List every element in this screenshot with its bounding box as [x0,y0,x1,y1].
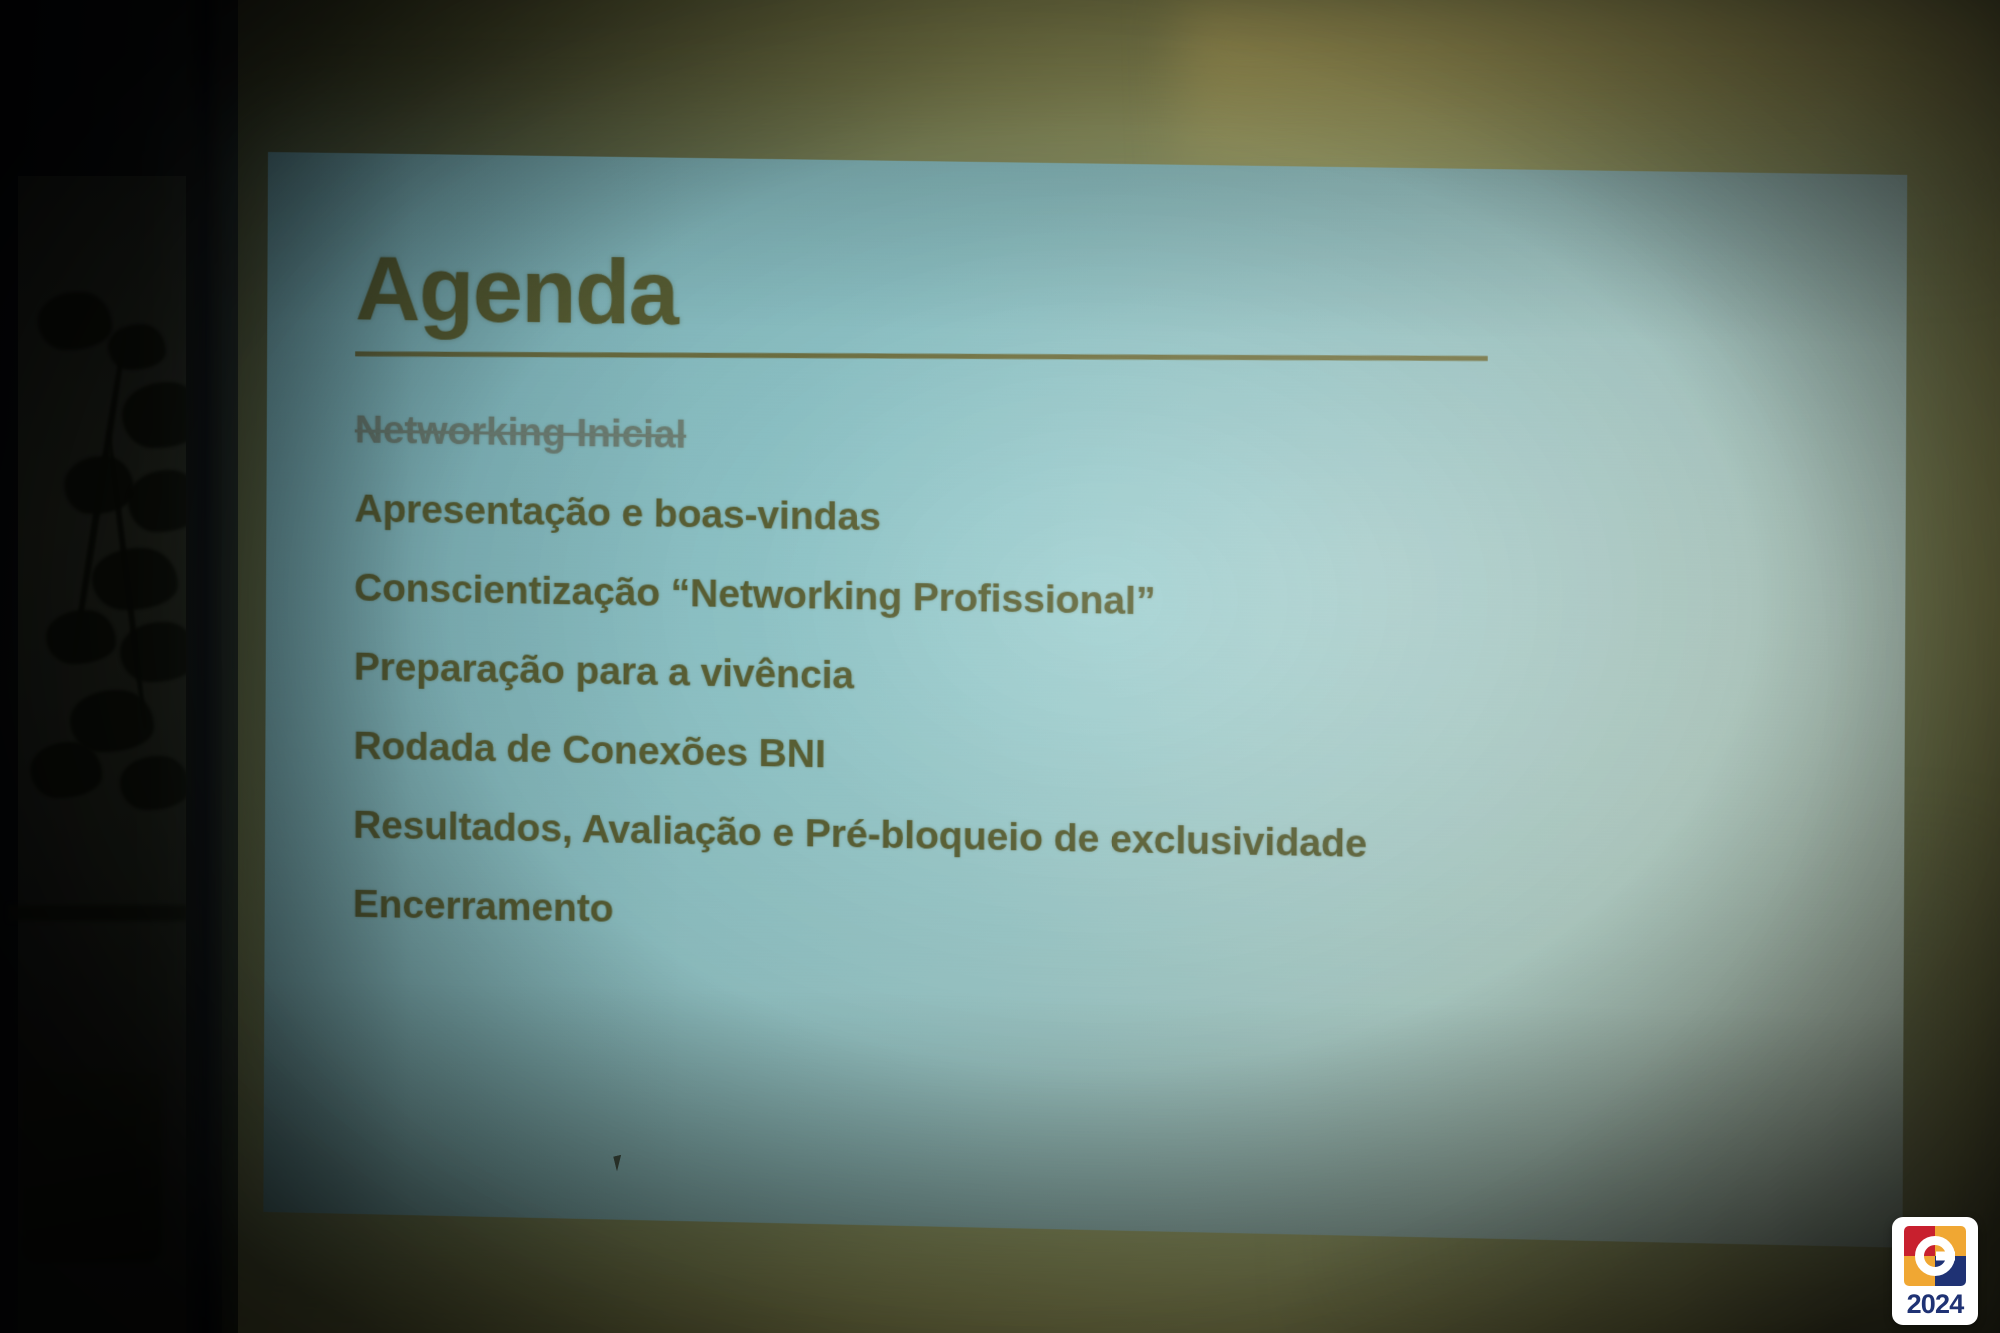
agenda-item-resultados: Resultados, Avaliação e Pré-bloqueio de … [353,806,1843,873]
plant-leaf [30,742,102,798]
slide-content: Agenda Networking Inicial Apresentação e… [352,245,1846,1185]
door-frame [186,0,222,1333]
plant-pot [22,1073,162,1263]
watermark-year: 2024 [1907,1291,1964,1318]
event-watermark-badge: 2024 [1892,1217,1978,1325]
projected-slide-photo: Agenda Networking Inicial Apresentação e… [0,0,2000,1333]
handrail [8,905,188,921]
plant-leaf [120,756,190,810]
plant-leaf [70,690,154,752]
plant-leaf [108,324,166,370]
plant-leaf [92,548,178,610]
agenda-item-apresentacao: Apresentação e boas-vindas [354,490,1844,554]
agenda-item-rodada-conexoes: Rodada de Conexões BNI [353,727,1843,794]
plant-leaf [64,456,134,514]
agenda-item-preparacao: Preparação para a vivência [354,648,1844,714]
doorway-dark-area [0,0,238,1333]
brand-logo-icon [1904,1226,1966,1286]
projection-screen: Agenda Networking Inicial Apresentação e… [263,152,1907,1248]
agenda-item-encerramento: Encerramento [353,885,1843,953]
plant-leaf [46,610,116,664]
logo-g-glyph-icon [1915,1236,1955,1276]
plant-leaf [38,292,112,350]
title-divider [355,352,1488,362]
agenda-item-conscientizacao: Conscientização “Networking Profissional… [354,569,1844,634]
agenda-list: Networking Inicial Apresentação e boas-v… [353,411,1845,954]
agenda-item-networking-inicial: Networking Inicial [355,411,1845,474]
